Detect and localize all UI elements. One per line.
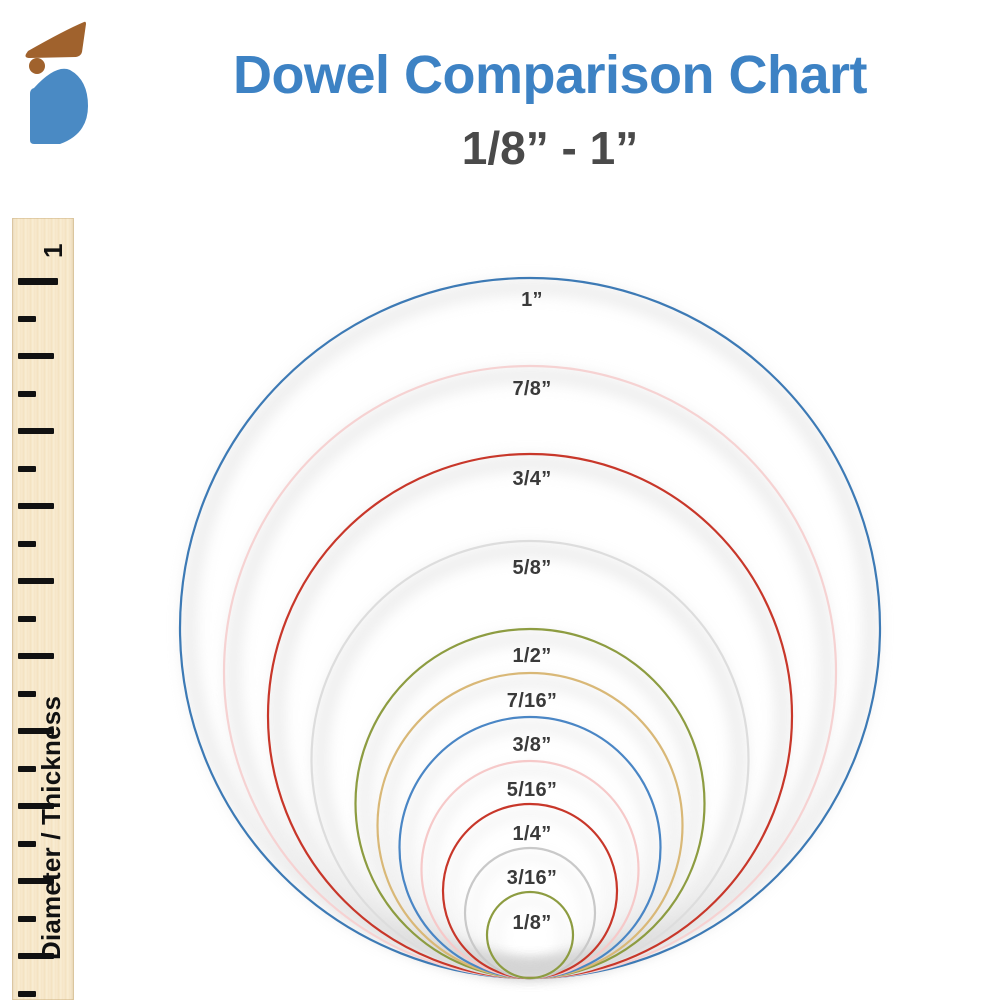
dowel-size-label: 1/2”	[512, 645, 551, 668]
dowel-size-label: 5/16”	[507, 779, 557, 802]
dowel-size-label: 3/4”	[512, 468, 551, 491]
dowel-size-label: 3/8”	[512, 734, 551, 757]
dowel-size-label: 5/8”	[512, 557, 551, 580]
dowel-size-label: 7/16”	[507, 690, 557, 713]
dowel-size-label: 1/4”	[512, 823, 551, 846]
dowel-size-label: 7/8”	[512, 378, 551, 401]
dowel-circle-shadow	[321, 550, 740, 969]
dowel-size-label: 1/8”	[512, 912, 551, 935]
dowel-size-label: 3/16”	[507, 867, 557, 890]
dowel-circle-group	[0, 0, 999, 1000]
dowel-size-label: 1”	[521, 289, 543, 312]
chart-canvas: Dowel Comparison Chart 1/8” - 1” 1 Diame…	[0, 0, 999, 1000]
